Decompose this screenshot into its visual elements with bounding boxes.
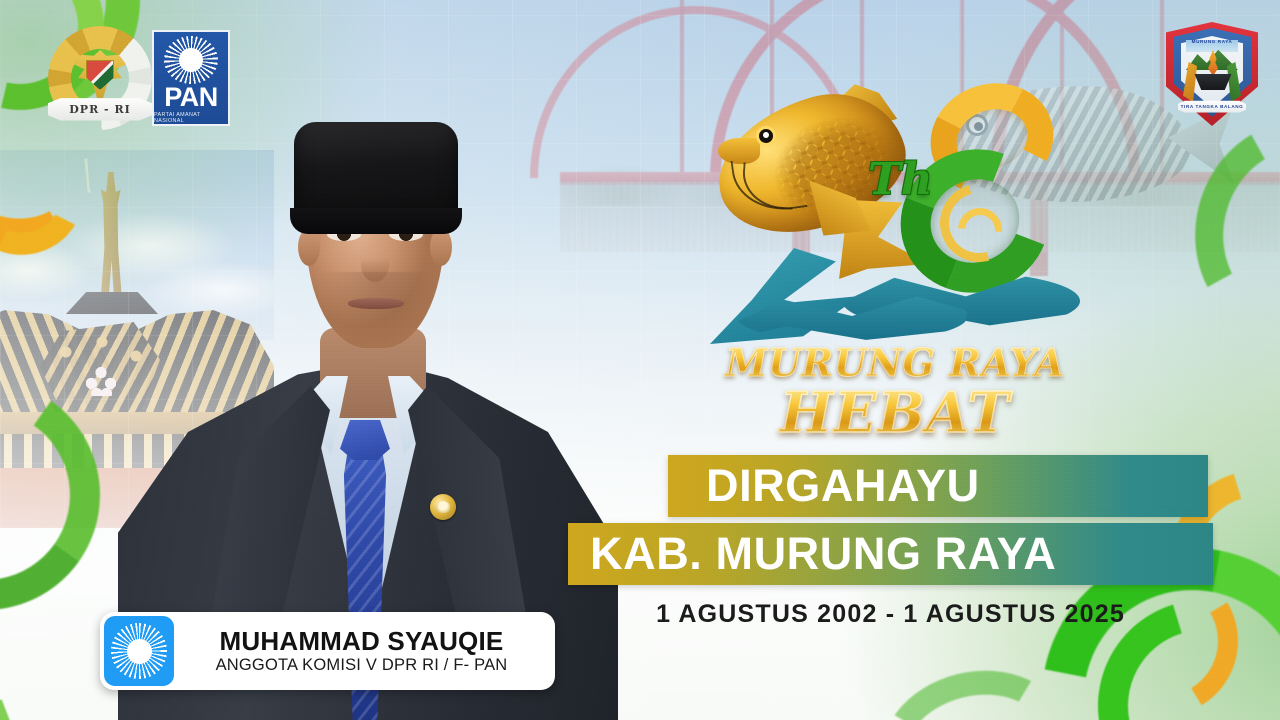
anniversary-logo: Th MURUNG RAYA HEBAT (700, 58, 1090, 418)
nameplate-text: MUHAMMAD SYAUQIE ANGGOTA KOMISI V DPR RI… (174, 627, 555, 675)
sun-core (179, 48, 203, 72)
sun-core (127, 639, 152, 664)
headline-banner-secondary: KAB. MURUNG RAYA (568, 523, 1213, 585)
pan-sun-icon (104, 616, 174, 686)
dpr-ribbon-label: DPR - RI (69, 103, 130, 116)
crest-motto-label: TIRA TANGKA BALANG (1166, 104, 1258, 109)
anniversary-unit-label: Th (868, 154, 933, 205)
mouth (348, 298, 404, 309)
person-name: MUHAMMAD SYAUQIE (178, 627, 545, 655)
peci-cap (294, 122, 458, 230)
pan-party-logo: PAN PARTAI AMANAT NASIONAL (152, 30, 230, 126)
nameplate: MUHAMMAD SYAUQIE ANGGOTA KOMISI V DPR RI… (100, 612, 555, 690)
nose (361, 248, 389, 282)
dpr-ribbon: DPR - RI (48, 96, 152, 122)
headline-banner-primary: DIRGAHAYU (668, 455, 1208, 517)
dpr-ri-emblem: DPR - RI (44, 22, 156, 134)
pan-tagline: PARTAI AMANAT NASIONAL (154, 112, 228, 124)
murung-raya-crest: MURUNG RAYA TIRA TANGKA BALANG (1166, 22, 1258, 126)
person-role: ANGGOTA KOMISI V DPR RI / F- PAN (178, 656, 545, 675)
anniversary-title: MURUNG RAYA (700, 340, 1090, 385)
dpr-lapel-pin-icon (430, 494, 456, 520)
pan-sun-icon (164, 36, 218, 84)
anniversary-subtitle: HEBAT (700, 380, 1090, 446)
carp-eye (756, 126, 776, 146)
crest-top-label: MURUNG RAYA (1166, 39, 1258, 44)
pan-wordmark: PAN (164, 85, 218, 111)
poster-canvas: Bundaran Songa (0, 0, 1280, 720)
date-range-label: 1 AGUSTUS 2002 - 1 AGUSTUS 2025 (568, 600, 1213, 629)
